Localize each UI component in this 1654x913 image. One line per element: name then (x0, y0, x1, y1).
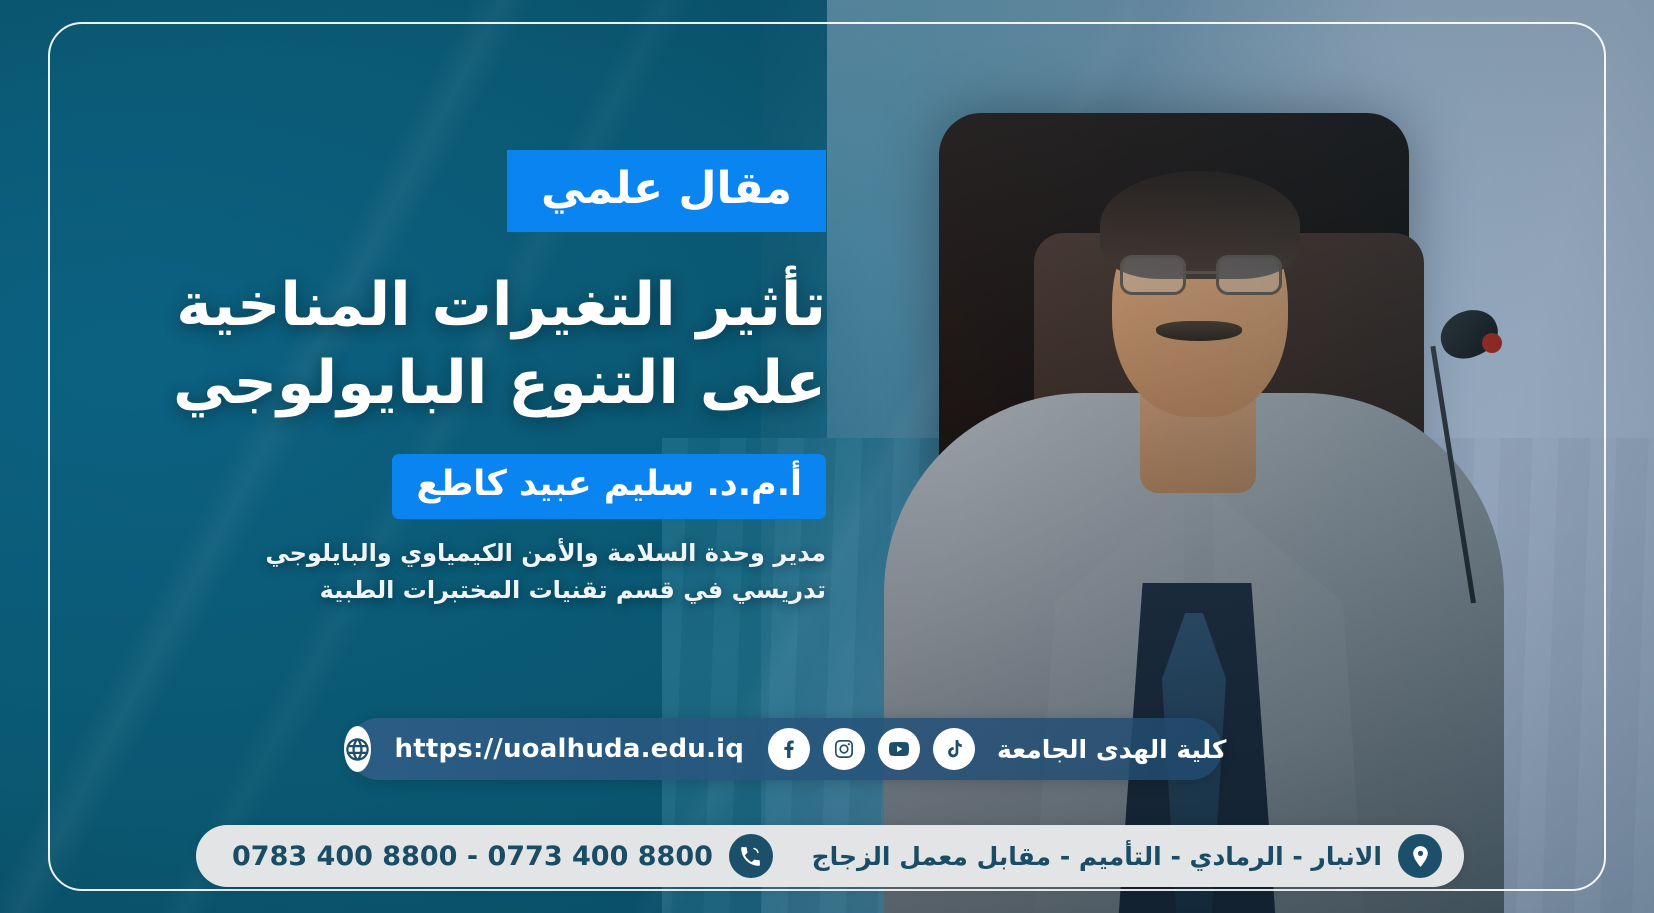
author-name-badge: أ.م.د. سليم عبيد كاطع (392, 454, 826, 519)
poster-canvas: مقال علمي تأثير التغيرات المناخية على ال… (0, 0, 1654, 913)
phone-numbers: 0783 400 8800 - 0773 400 8800 (232, 841, 713, 872)
tiktok-icon[interactable] (933, 728, 975, 770)
title-line-1: تأثير التغيرات المناخية (96, 266, 826, 344)
instagram-icon[interactable] (823, 728, 865, 770)
facebook-icon[interactable] (768, 728, 810, 770)
author-roles: مدير وحدة السلامة والأمن الكيمياوي والبا… (96, 535, 826, 609)
author-role-line-1: مدير وحدة السلامة والأمن الكيمياوي والبا… (96, 535, 826, 572)
globe-icon[interactable] (344, 726, 371, 772)
page-title: تأثير التغيرات المناخية على التنوع الباي… (96, 266, 826, 422)
phone-group: 0783 400 8800 - 0773 400 8800 (232, 834, 773, 878)
organization-label: كلية الهدى الجامعة (997, 735, 1226, 764)
youtube-icon[interactable] (878, 728, 920, 770)
location-pin-icon (1398, 834, 1442, 878)
address-text: الانبار - الرمادي - التأميم - مقابل معمل… (812, 842, 1382, 871)
background-sky (827, 0, 1654, 438)
phone-call-icon (729, 834, 773, 878)
address-group: الانبار - الرمادي - التأميم - مقابل معمل… (812, 834, 1442, 878)
article-kind-badge: مقال علمي (507, 150, 826, 232)
author-role-line-2: تدريسي في قسم تقنيات المختبرات الطبية (96, 572, 826, 609)
title-line-2: على التنوع البايولوجي (96, 344, 826, 422)
social-bar: كلية الهدى الجامعة https://uoalhuda.edu.… (348, 718, 1222, 780)
content-block: مقال علمي تأثير التغيرات المناخية على ال… (96, 150, 826, 609)
social-icon-group (768, 728, 975, 770)
website-url[interactable]: https://uoalhuda.edu.iq (395, 734, 744, 764)
contact-bar: الانبار - الرمادي - التأميم - مقابل معمل… (196, 825, 1464, 887)
